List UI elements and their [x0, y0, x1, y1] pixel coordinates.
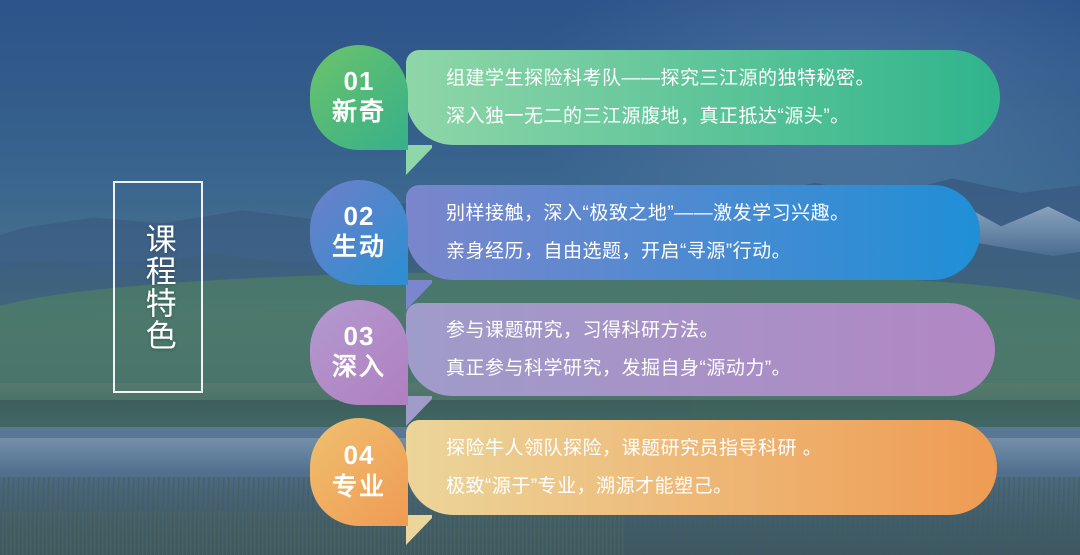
feature-line: 组建学生探险科考队——探究三江源的独特秘密。 — [446, 60, 960, 97]
feature-badge[interactable]: 03深入 — [310, 300, 408, 405]
feature-label: 生动 — [332, 232, 386, 262]
feature-label: 新奇 — [332, 97, 386, 127]
feature-bubble[interactable]: 组建学生探险科考队——探究三江源的独特秘密。深入独一无二的三江源腹地，真正抵达“… — [406, 50, 1000, 145]
feature-line: 参与课题研究，习得科研方法。 — [446, 312, 955, 349]
feature-line: 真正参与科学研究，发掘自身“源动力”。 — [446, 350, 955, 387]
feature-line: 别样接触，深入“极致之地”——激发学习兴趣。 — [446, 195, 940, 232]
feature-number: 02 — [344, 203, 375, 230]
feature-label: 专业 — [332, 472, 386, 502]
feature-number: 04 — [344, 442, 375, 469]
bubble-tail — [406, 515, 432, 545]
feature-line: 亲身经历，自由选题，开启“寻源”行动。 — [446, 233, 940, 270]
feature-badge[interactable]: 01新奇 — [310, 45, 408, 150]
feature-bubble[interactable]: 探险牛人领队探险，课题研究员指导科研 。极致“源于”专业，溯源才能塑己。 — [406, 420, 997, 515]
feature-number: 01 — [344, 68, 375, 95]
slide-root: 课程特色 组建学生探险科考队——探究三江源的独特秘密。深入独一无二的三江源腹地，… — [0, 0, 1080, 555]
feature-line: 极致“源于”专业，溯源才能塑己。 — [446, 468, 957, 505]
feature-badge[interactable]: 02生动 — [310, 180, 408, 285]
feature-bubble[interactable]: 别样接触，深入“极致之地”——激发学习兴趣。亲身经历，自由选题，开启“寻源”行动… — [406, 185, 980, 280]
feature-badge[interactable]: 04专业 — [310, 418, 408, 526]
feature-line: 探险牛人领队探险，课题研究员指导科研 。 — [446, 430, 957, 467]
feature-bubble[interactable]: 参与课题研究，习得科研方法。真正参与科学研究，发掘自身“源动力”。 — [406, 303, 995, 396]
bubble-tail — [406, 145, 432, 175]
feature-line: 深入独一无二的三江源腹地，真正抵达“源头”。 — [446, 98, 960, 135]
feature-list: 组建学生探险科考队——探究三江源的独特秘密。深入独一无二的三江源腹地，真正抵达“… — [0, 0, 1080, 555]
feature-label: 深入 — [332, 352, 386, 382]
feature-number: 03 — [344, 323, 375, 350]
